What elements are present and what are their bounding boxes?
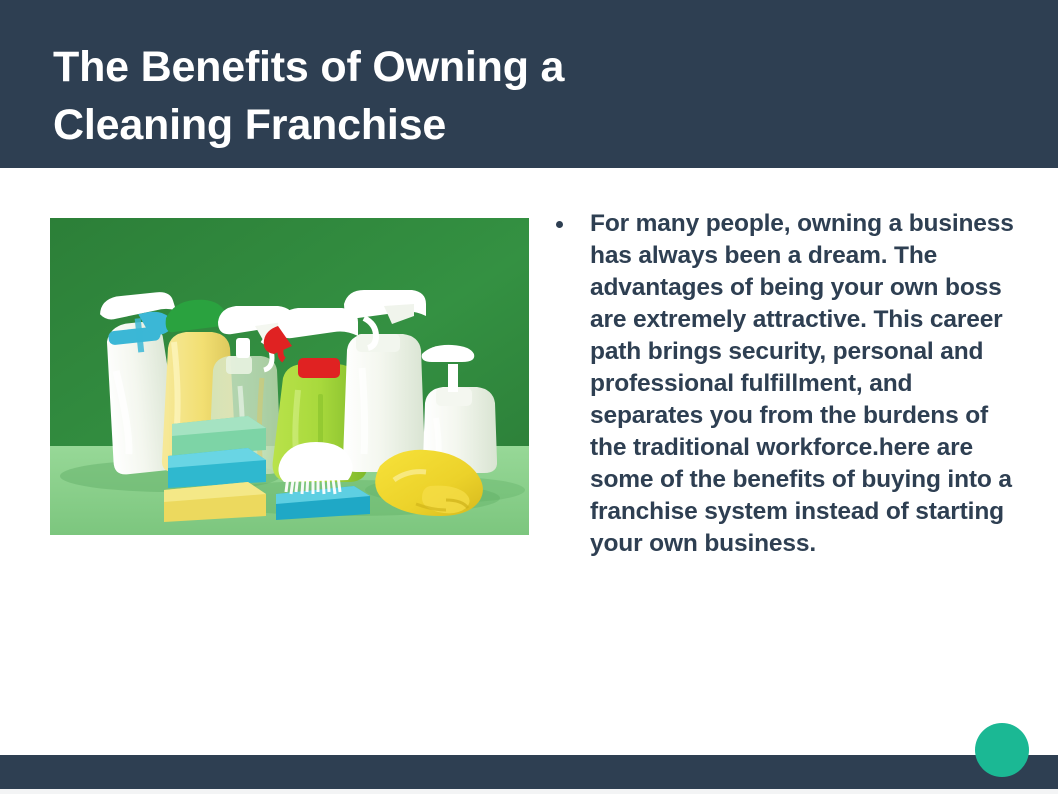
cleaning-supplies-image xyxy=(50,218,529,535)
bullet-dot-icon xyxy=(556,221,563,228)
accent-circle-decoration xyxy=(975,723,1029,777)
title-band: The Benefits of Owning a Cleaning Franch… xyxy=(0,0,1058,168)
list-item: For many people, owning a business has a… xyxy=(552,208,1022,560)
footer-band xyxy=(0,755,1058,789)
content-body: For many people, owning a business has a… xyxy=(552,208,1022,560)
page-title: The Benefits of Owning a Cleaning Franch… xyxy=(53,38,913,154)
footer-hairline xyxy=(0,789,1058,794)
bullet-text: For many people, owning a business has a… xyxy=(590,210,1014,557)
slide-canvas: The Benefits of Owning a Cleaning Franch… xyxy=(0,0,1058,794)
cleaning-supplies-illustration xyxy=(50,218,529,535)
